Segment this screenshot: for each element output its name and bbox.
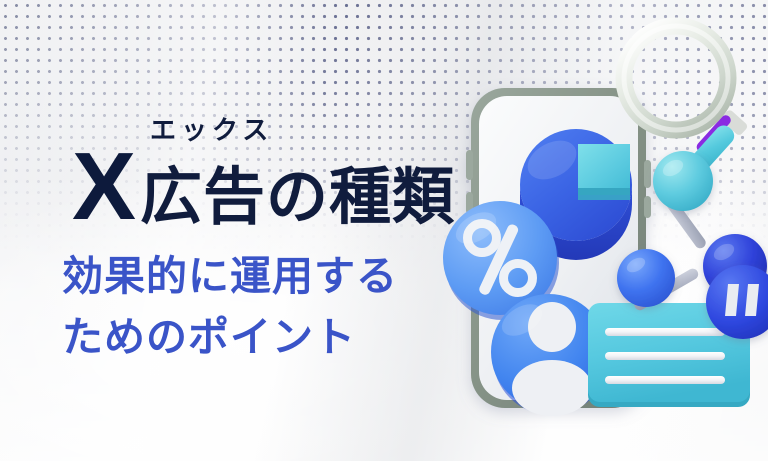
banner-root: エックス X 広告の種類 効果的に運用する ためのポイント	[0, 0, 768, 461]
illustration	[440, 0, 768, 461]
title-row: X 広告の種類	[72, 148, 455, 227]
x-letter-mark: X	[72, 148, 136, 227]
text-block: エックス X 広告の種類 効果的に運用する ためのポイント	[0, 0, 470, 461]
page-subtitle: 効果的に運用する ためのポイント	[62, 246, 398, 367]
node-mid-blue	[617, 249, 675, 307]
illustration-svg	[440, 0, 768, 461]
node-cyan	[653, 151, 713, 211]
page-title: 広告の種類	[140, 169, 455, 227]
ruby-furigana: エックス	[150, 117, 273, 143]
